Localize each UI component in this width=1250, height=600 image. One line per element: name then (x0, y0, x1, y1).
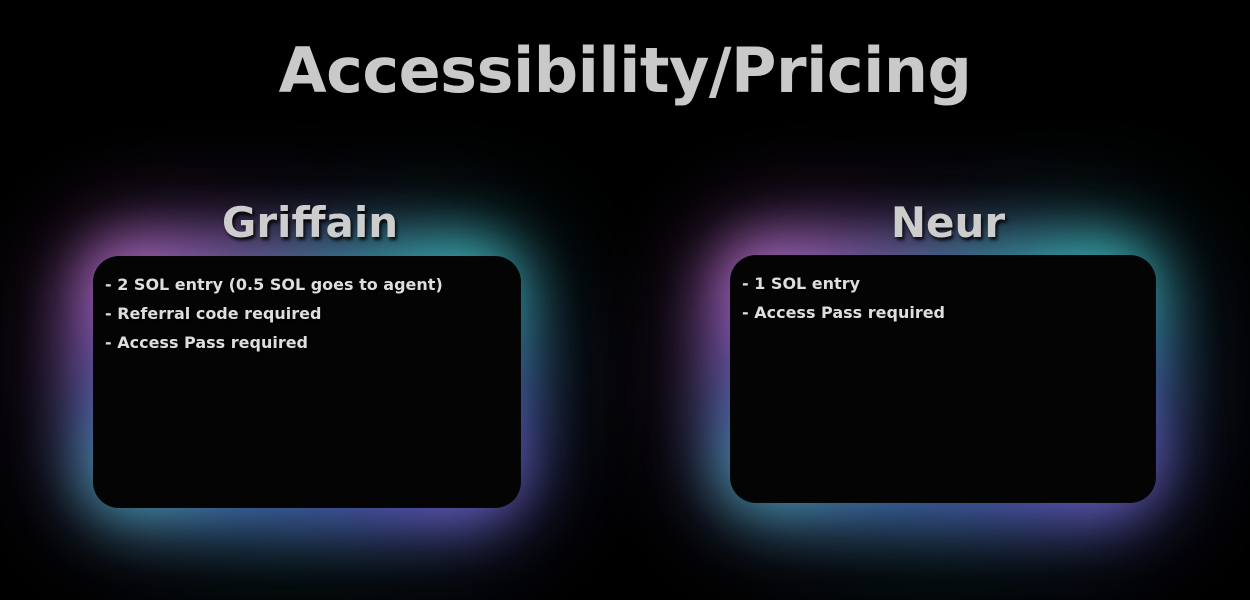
panel-heading-griffain: Griffain (30, 198, 590, 247)
feature-list-griffain: - 2 SOL entry (0.5 SOL goes to agent) - … (93, 256, 521, 357)
list-item: - 2 SOL entry (0.5 SOL goes to agent) (93, 270, 521, 299)
list-item: - Access Pass required (93, 328, 521, 357)
panel-heading-neur: Neur (668, 198, 1228, 247)
comparison-panels: Griffain - 2 SOL entry (0.5 SOL goes to … (0, 150, 1250, 600)
panel-card-griffain: - 2 SOL entry (0.5 SOL goes to agent) - … (93, 256, 521, 508)
page-title: Accessibility/Pricing (0, 34, 1250, 107)
list-item: - Referral code required (93, 299, 521, 328)
panel-card-neur: - 1 SOL entry - Access Pass required (730, 255, 1156, 503)
list-item: - Access Pass required (730, 298, 1156, 327)
list-item: - 1 SOL entry (730, 269, 1156, 298)
feature-list-neur: - 1 SOL entry - Access Pass required (730, 255, 1156, 327)
